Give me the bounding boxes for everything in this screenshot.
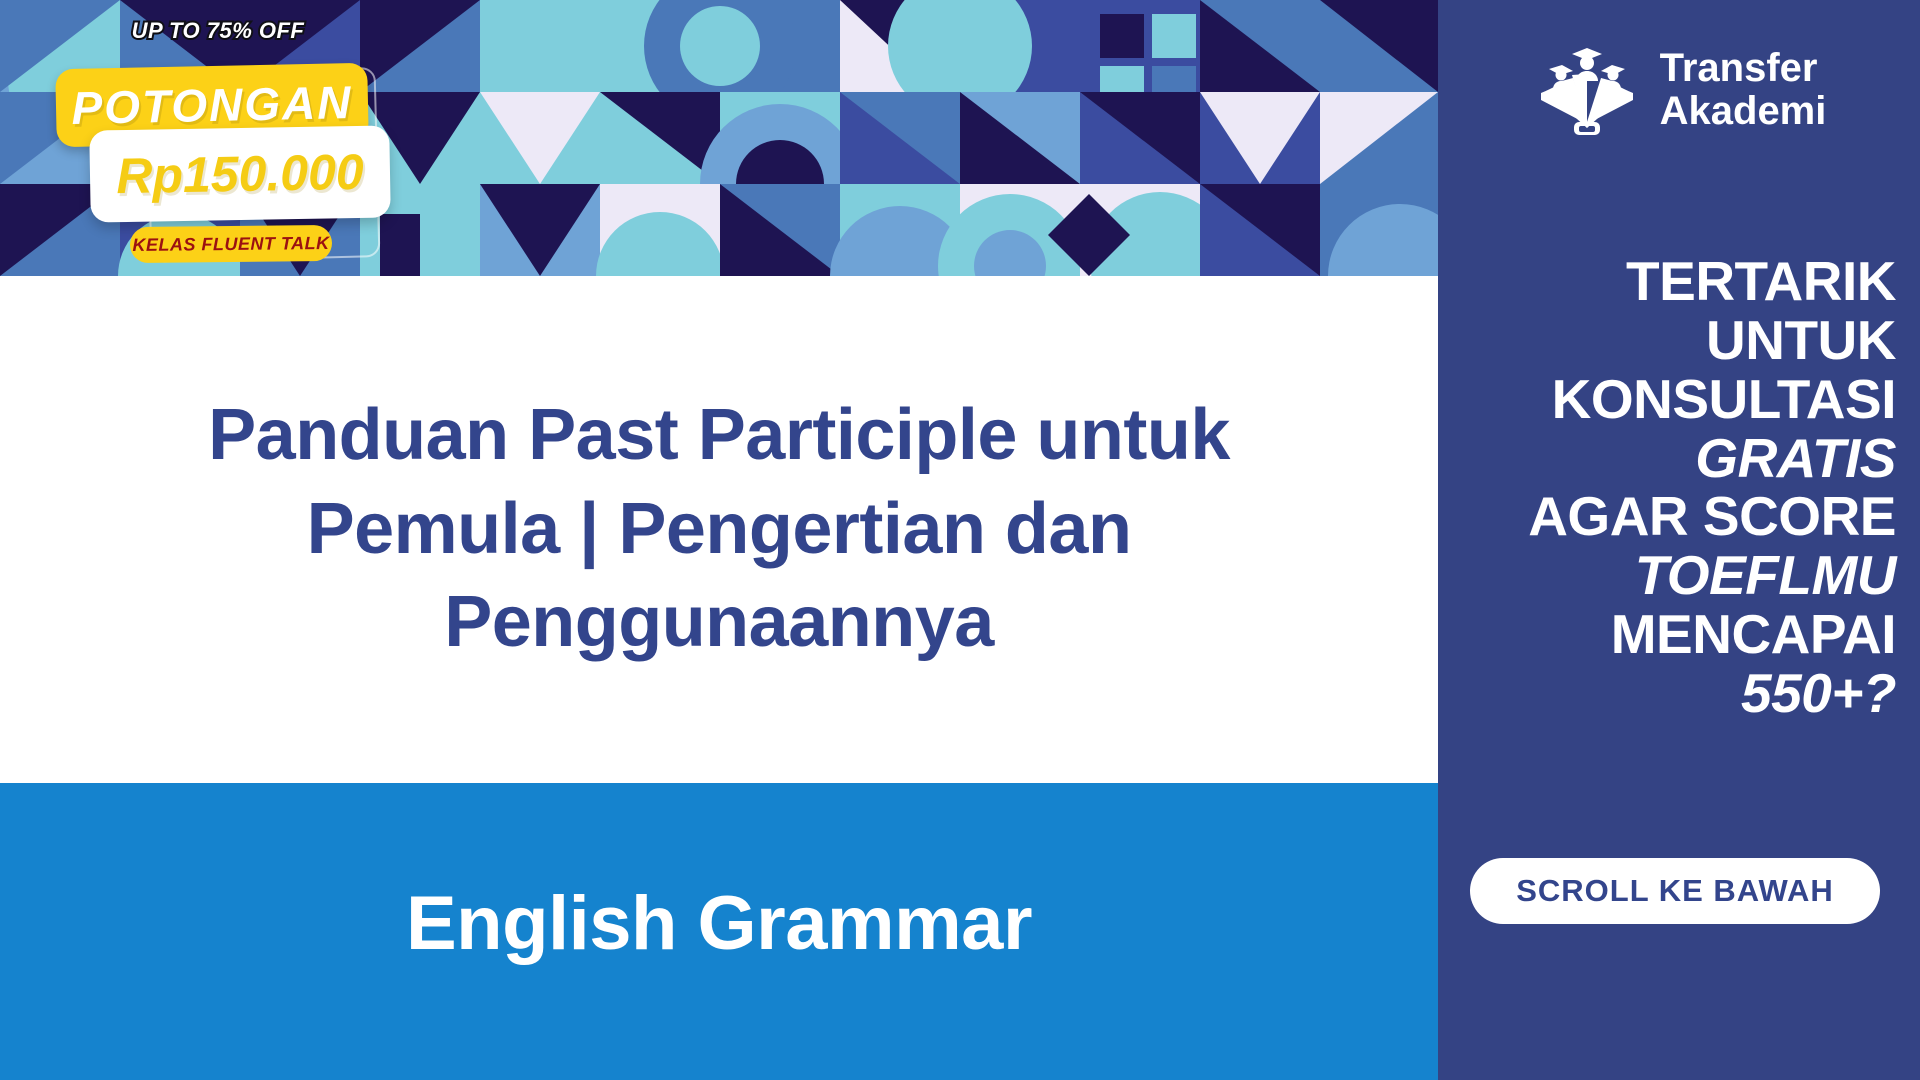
promo-class-pill: KELAS FLUENT TALK	[130, 225, 332, 263]
cta-line-7: MENCAPAI	[1438, 605, 1896, 664]
category-label: English Grammar	[406, 880, 1032, 967]
page-title: Panduan Past Participle untuk Pemula | P…	[89, 389, 1349, 670]
cta-line-2: UNTUK	[1438, 311, 1896, 370]
promo-discount-badge: UP TO 75% OFF POTONGAN Rp150.000 KELAS F…	[38, 18, 398, 298]
cta-headline: TERTARIK UNTUK KONSULTASI GRATIS AGAR SC…	[1438, 252, 1920, 723]
category-bar: English Grammar	[0, 783, 1438, 1080]
cta-line-1: TERTARIK	[1438, 252, 1896, 311]
cta-line-5: AGAR SCORE	[1438, 487, 1896, 546]
promo-price-text: Rp150.000	[116, 143, 364, 205]
cta-line-3: KONSULTASI	[1438, 370, 1896, 429]
promo-discount-percent: UP TO 75% OFF	[38, 18, 398, 44]
cta-line-6: TOEFLMU	[1438, 546, 1896, 605]
cta-line-8: 550+?	[1438, 664, 1896, 723]
brand-lockup: Transfer Akademi	[1438, 34, 1920, 146]
promo-class-text: KELAS FLUENT TALK	[132, 232, 329, 255]
promo-card: UP TO 75% OFF POTONGAN Rp150.000 KELAS F…	[0, 0, 1920, 1080]
brand-name: Transfer Akademi	[1660, 47, 1827, 133]
scroll-down-label: SCROLL KE BAWAH	[1516, 873, 1834, 909]
main-content-column: UP TO 75% OFF POTONGAN Rp150.000 KELAS F…	[0, 0, 1438, 1080]
open-book-graduates-icon	[1532, 44, 1642, 136]
promo-price-card: Rp150.000	[89, 125, 391, 222]
scroll-down-button[interactable]: SCROLL KE BAWAH	[1470, 858, 1880, 924]
title-section: Panduan Past Participle untuk Pemula | P…	[0, 276, 1438, 783]
cta-line-4: GRATIS	[1438, 429, 1896, 488]
